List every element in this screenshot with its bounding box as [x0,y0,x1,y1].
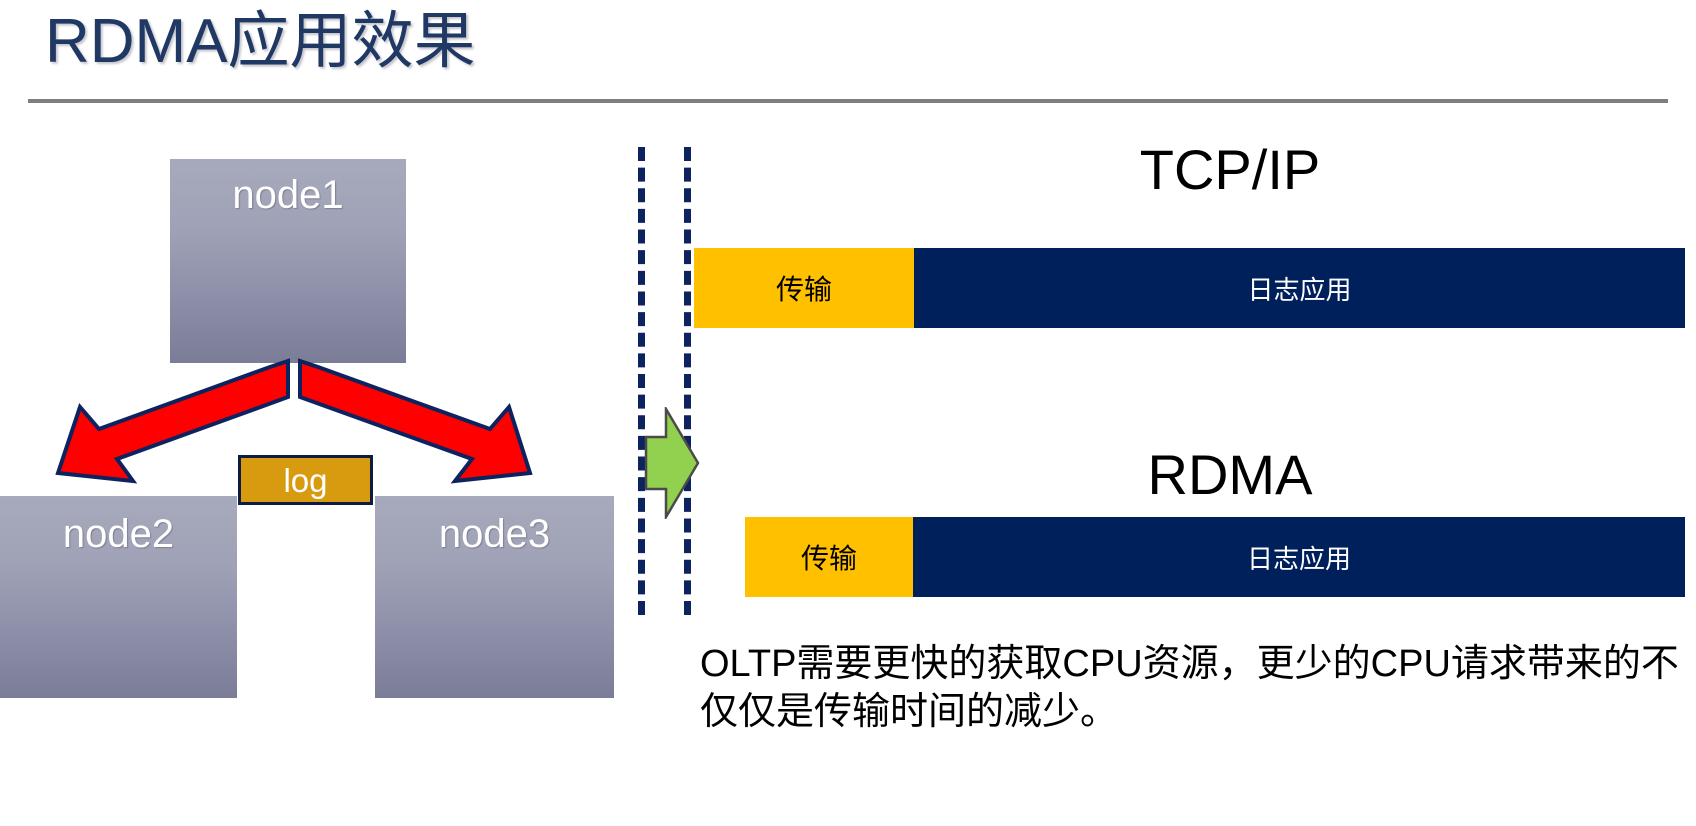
node-box-node1: node1 [170,159,406,363]
latency-bar-rdma: 传输 日志应用 [745,517,1685,597]
protocol-title-tcpip: TCP/IP [910,140,1550,200]
segment-transmit-rdma: 传输 [745,517,913,597]
log-box: log [238,455,373,505]
segment-log-app-tcpip: 日志应用 [914,248,1685,328]
latency-bar-tcpip: 传输 日志应用 [694,248,1685,328]
improvement-arrow-icon [644,407,700,519]
log-label: log [283,462,327,499]
node2-label: node2 [0,496,237,554]
node3-label: node3 [375,496,614,554]
protocol-title-rdma: RDMA [910,445,1550,505]
node-box-node2: node2 [0,496,237,698]
title-divider [28,99,1668,103]
timeline-marker-offset [684,147,691,615]
segment-log-app-rdma: 日志应用 [913,517,1685,597]
node-box-node3: node3 [375,496,614,698]
node1-label: node1 [170,159,406,215]
timeline-marker-start [638,147,645,615]
caption-text: OLTP需要更快的获取CPU资源，更少的CPU请求带来的不仅仅是传输时间的减少。 [700,640,1680,736]
slide-canvas: RDMA应用效果 node1 node2 node3 log TCP/IP 传输… [0,0,1696,826]
segment-transmit-tcpip: 传输 [694,248,914,328]
page-title: RDMA应用效果 [45,4,476,80]
